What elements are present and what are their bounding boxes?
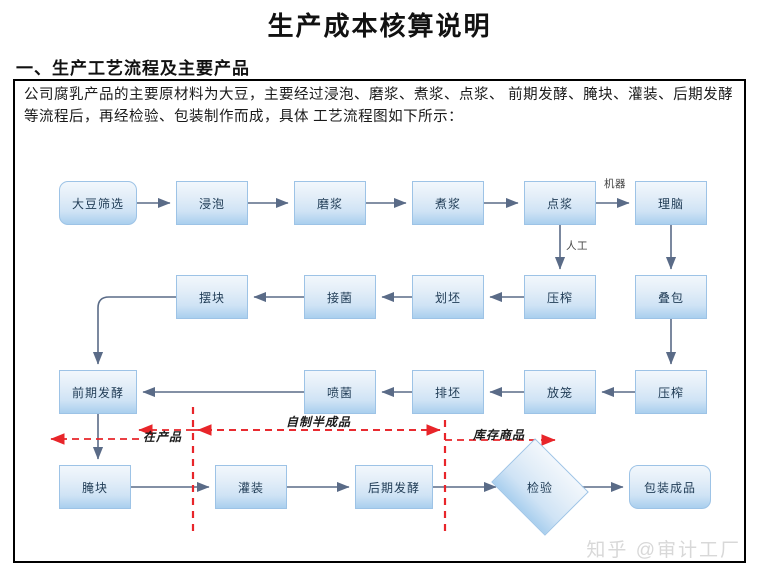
flow-node-label: 后期发酵: [368, 479, 420, 496]
flow-node-coagulating[interactable]: 点浆: [524, 181, 596, 225]
flow-node-inspection[interactable]: 检验: [502, 456, 578, 518]
document-page: 生产成本核算说明 一、生产工艺流程及主要产品 公司腐乳产品的主要原材料为大豆，主…: [0, 0, 759, 576]
flow-node-filling[interactable]: 灌装: [215, 465, 287, 509]
flow-node-label: 压榨: [547, 289, 573, 306]
flow-node-label: 理脑: [658, 195, 684, 212]
flow-node-label: 喷菌: [327, 384, 353, 401]
flow-node-label: 排坯: [435, 384, 461, 401]
flow-node-early-fermentation[interactable]: 前期发酵: [59, 370, 137, 414]
flow-node-block-placing[interactable]: 摆块: [176, 275, 248, 319]
flow-node-label: 前期发酵: [72, 384, 124, 401]
annotation-finished-inventory: 库存商品: [473, 426, 525, 443]
flow-node-label: 磨浆: [317, 195, 343, 212]
flow-node-grinding[interactable]: 磨浆: [294, 181, 366, 225]
flow-node-label: 灌装: [238, 479, 264, 496]
edge-label-machine: 机器: [604, 176, 626, 191]
flow-node-boiling[interactable]: 煮浆: [412, 181, 484, 225]
flow-node-soaking[interactable]: 浸泡: [176, 181, 248, 225]
flow-node-label: 检验: [527, 479, 553, 496]
flow-node-label: 叠包: [658, 289, 684, 306]
flow-node-label: 点浆: [547, 195, 573, 212]
flow-node-stacking[interactable]: 叠包: [635, 275, 707, 319]
watermark: 知乎 @审计工厂: [586, 535, 741, 562]
flow-node-label: 浸泡: [199, 195, 225, 212]
flow-node-label: 压榨: [658, 384, 684, 401]
flow-node-pressing-1[interactable]: 压榨: [524, 275, 596, 319]
flow-node-label: 划坯: [435, 289, 461, 306]
flow-node-label: 包装成品: [644, 479, 696, 496]
flow-node-label: 大豆筛选: [72, 195, 124, 212]
edge-label-manual: 人工: [566, 238, 588, 253]
flow-node-label: 接菌: [327, 289, 353, 306]
flow-node-caging[interactable]: 放笼: [524, 370, 596, 414]
flow-node-pressing-2[interactable]: 压榨: [635, 370, 707, 414]
flow-node-inoculating[interactable]: 接菌: [304, 275, 376, 319]
flow-node-packaged-product[interactable]: 包装成品: [629, 465, 711, 509]
flow-node-blank-arranging[interactable]: 排坯: [412, 370, 484, 414]
annotation-semi-finished-goods: 自制半成品: [286, 413, 351, 430]
flow-node-curd-arranging[interactable]: 理脑: [635, 181, 707, 225]
flow-node-label: 摆块: [199, 289, 225, 306]
annotation-work-in-progress: 在产品: [143, 428, 182, 445]
flow-node-soybean-screening[interactable]: 大豆筛选: [59, 181, 137, 225]
flow-node-salting[interactable]: 腌块: [59, 465, 131, 509]
page-title: 生产成本核算说明: [0, 6, 759, 43]
flow-node-label: 煮浆: [435, 195, 461, 212]
flow-node-late-fermentation[interactable]: 后期发酵: [355, 465, 433, 509]
flow-node-label: 放笼: [547, 384, 573, 401]
section-heading: 一、生产工艺流程及主要产品: [16, 54, 250, 79]
flowchart-canvas: 大豆筛选 浸泡 磨浆 煮浆 点浆 理脑 摆块 接菌 划坯 压榨 叠包: [15, 81, 744, 561]
flow-node-spraying[interactable]: 喷菌: [304, 370, 376, 414]
flow-node-label: 腌块: [82, 479, 108, 496]
flow-node-cutting[interactable]: 划坯: [412, 275, 484, 319]
